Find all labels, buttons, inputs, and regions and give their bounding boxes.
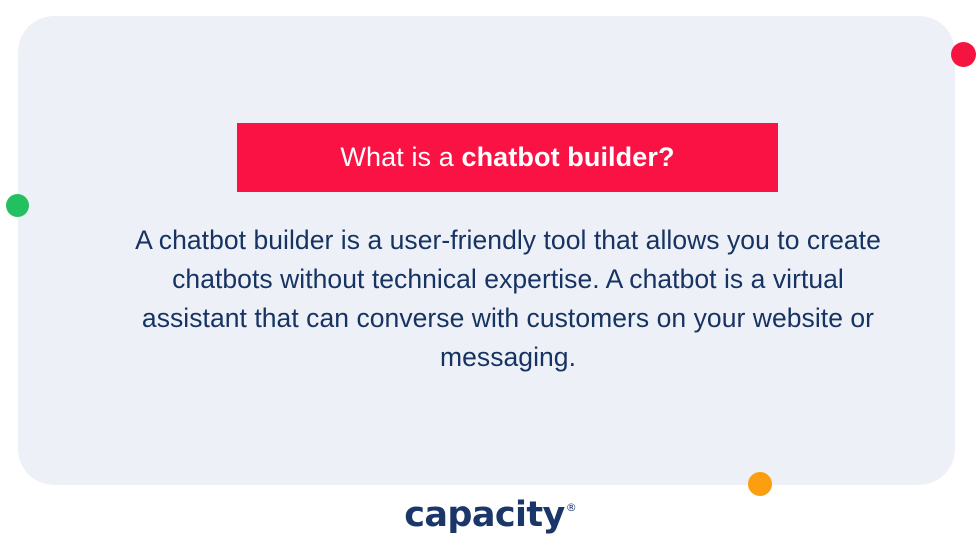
green-dot-decoration bbox=[6, 194, 29, 217]
orange-dot-decoration bbox=[748, 472, 772, 496]
title-text: What is a chatbot builder? bbox=[340, 144, 674, 171]
title-emphasis-text: chatbot builder? bbox=[461, 142, 674, 172]
title-lead-text: What is a bbox=[340, 142, 461, 172]
registered-trademark-icon: ® bbox=[566, 501, 577, 514]
body-paragraph: A chatbot builder is a user-friendly too… bbox=[128, 221, 888, 377]
infographic-card: What is a chatbot builder? A chatbot bui… bbox=[18, 16, 955, 485]
brand-wordmark: capacity bbox=[404, 495, 565, 535]
red-dot-decoration bbox=[951, 42, 976, 67]
brand-logo: capacity® bbox=[0, 498, 980, 533]
title-banner: What is a chatbot builder? bbox=[237, 123, 778, 192]
